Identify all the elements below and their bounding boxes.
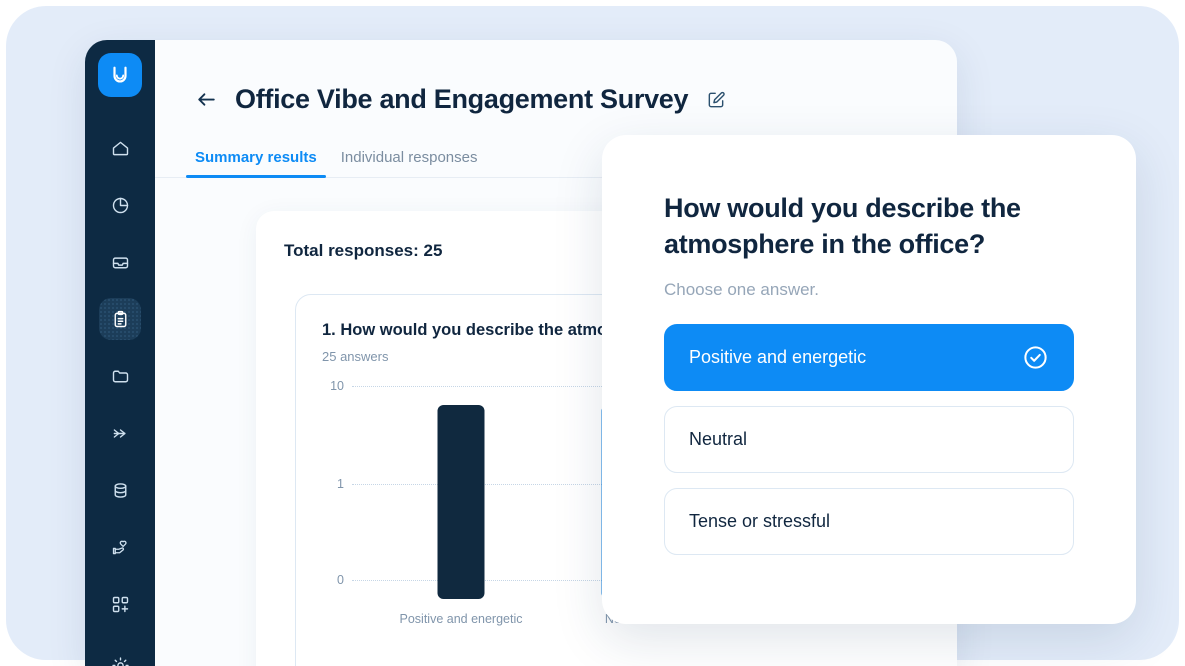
question-preview-modal: How would you describe the atmosphere in… <box>602 135 1136 624</box>
sidebar <box>85 40 155 666</box>
answer-option[interactable]: Tense or stressful <box>664 488 1074 555</box>
modal-question-text: How would you describe the atmosphere in… <box>664 191 1074 262</box>
screenshot-root: Office Vibe and Engagement Survey Summar… <box>0 0 1185 666</box>
arrow-merge-icon <box>110 423 131 444</box>
sidebar-item-settings[interactable] <box>99 644 141 666</box>
sidebar-item-integrations[interactable] <box>99 583 141 625</box>
page-title: Office Vibe and Engagement Survey <box>235 84 688 115</box>
pie-chart-icon <box>110 195 131 216</box>
sidebar-item-engagement[interactable] <box>99 526 141 568</box>
home-icon <box>110 138 131 159</box>
y-axis-tick-label: 10 <box>322 379 344 393</box>
chart-bar-column[interactable]: Positive and energetic <box>400 386 523 626</box>
sidebar-item-files[interactable] <box>99 355 141 397</box>
tab-individual-responses[interactable]: Individual responses <box>332 143 487 177</box>
database-icon <box>110 480 131 501</box>
chart-bar[interactable] <box>438 405 485 599</box>
tab-summary-results[interactable]: Summary results <box>186 143 326 177</box>
folder-icon <box>110 366 131 387</box>
sidebar-item-automations[interactable] <box>99 412 141 454</box>
modal-hint-text: Choose one answer. <box>664 280 1074 300</box>
answer-options-list: Positive and energeticNeutralTense or st… <box>664 324 1074 555</box>
sidebar-item-analytics[interactable] <box>99 184 141 226</box>
answer-option-label: Neutral <box>689 429 747 450</box>
hand-heart-icon <box>110 537 131 558</box>
y-axis-tick-label: 1 <box>322 477 344 491</box>
back-arrow-icon[interactable] <box>194 87 219 112</box>
sidebar-item-data[interactable] <box>99 469 141 511</box>
y-axis-tick-label: 0 <box>322 573 344 587</box>
sidebar-item-inbox[interactable] <box>99 241 141 283</box>
answer-option-label: Positive and energetic <box>689 347 866 368</box>
edit-pencil-icon[interactable] <box>706 90 726 110</box>
gear-icon <box>110 655 131 666</box>
apps-plus-icon <box>110 594 131 615</box>
answer-option[interactable]: Positive and energetic <box>664 324 1074 391</box>
answer-option-label: Tense or stressful <box>689 511 830 532</box>
clipboard-icon <box>110 309 131 330</box>
page-header: Office Vibe and Engagement Survey <box>155 40 957 115</box>
x-axis-category-label: Positive and energetic <box>400 612 523 626</box>
inbox-icon <box>110 252 131 273</box>
sidebar-item-surveys[interactable] <box>99 298 141 340</box>
answer-option[interactable]: Neutral <box>664 406 1074 473</box>
sidebar-item-home[interactable] <box>99 127 141 169</box>
check-circle-icon <box>1022 344 1049 371</box>
logo-u-smile[interactable] <box>98 53 142 97</box>
